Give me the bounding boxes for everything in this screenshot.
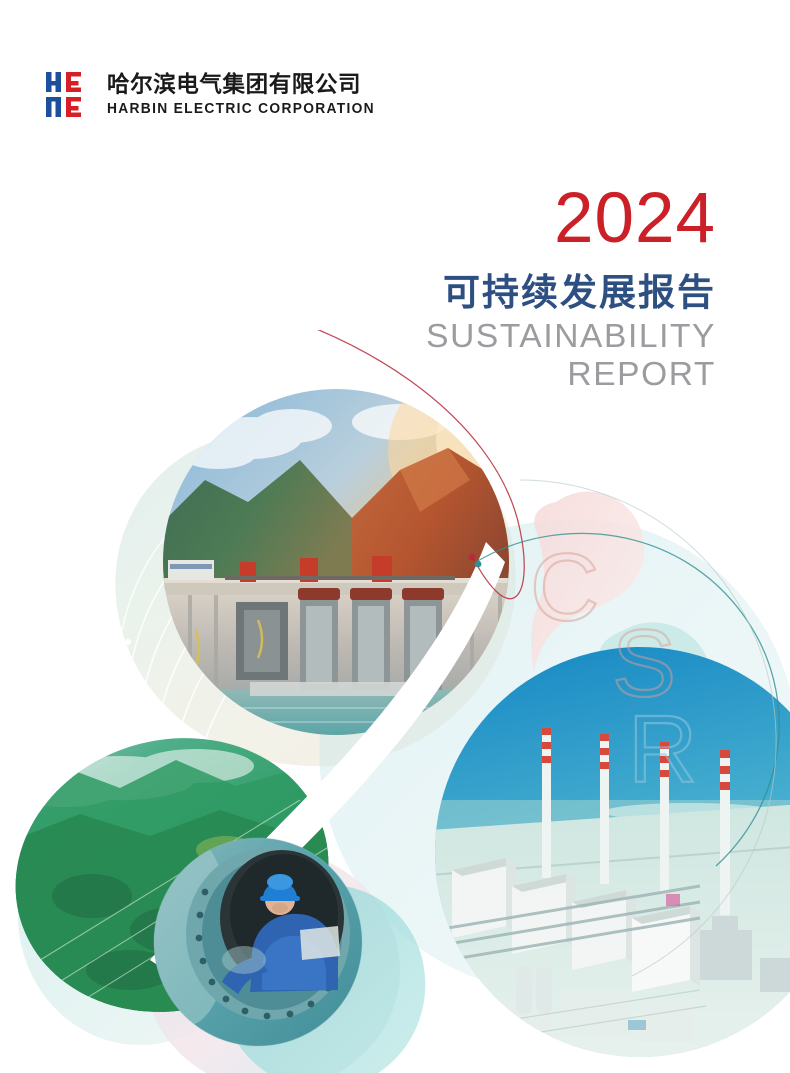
hec-logo-icon: [44, 70, 94, 120]
watermark-letter-c: C: [530, 534, 599, 641]
report-year: 2024: [296, 188, 716, 250]
watermark-letter-r: R: [628, 696, 697, 803]
chimney-stack: [542, 728, 551, 878]
cover-artwork-svg: C S R: [0, 330, 790, 1073]
company-name-en: HARBIN ELECTRIC CORPORATION: [107, 102, 375, 116]
company-name-cn: 哈尔滨电气集团有限公司: [107, 74, 385, 97]
cover-artwork: C S R: [0, 330, 790, 1073]
company-name-block: 哈尔滨电气集团有限公司 HARBIN ELECTRIC CORPORATION: [107, 74, 385, 116]
company-brand-lockup: 哈尔滨电气集团有限公司 HARBIN ELECTRIC CORPORATION: [44, 70, 385, 120]
teal-arc-endpoint-dot: [475, 561, 482, 568]
report-cover-page: 哈尔滨电气集团有限公司 HARBIN ELECTRIC CORPORATION …: [0, 0, 790, 1073]
red-arc-endpoint-dot: [469, 554, 476, 561]
report-title-cn: 可持续发展报告: [296, 272, 716, 313]
chimney-stack: [720, 750, 730, 915]
chimney-stack: [600, 734, 609, 884]
